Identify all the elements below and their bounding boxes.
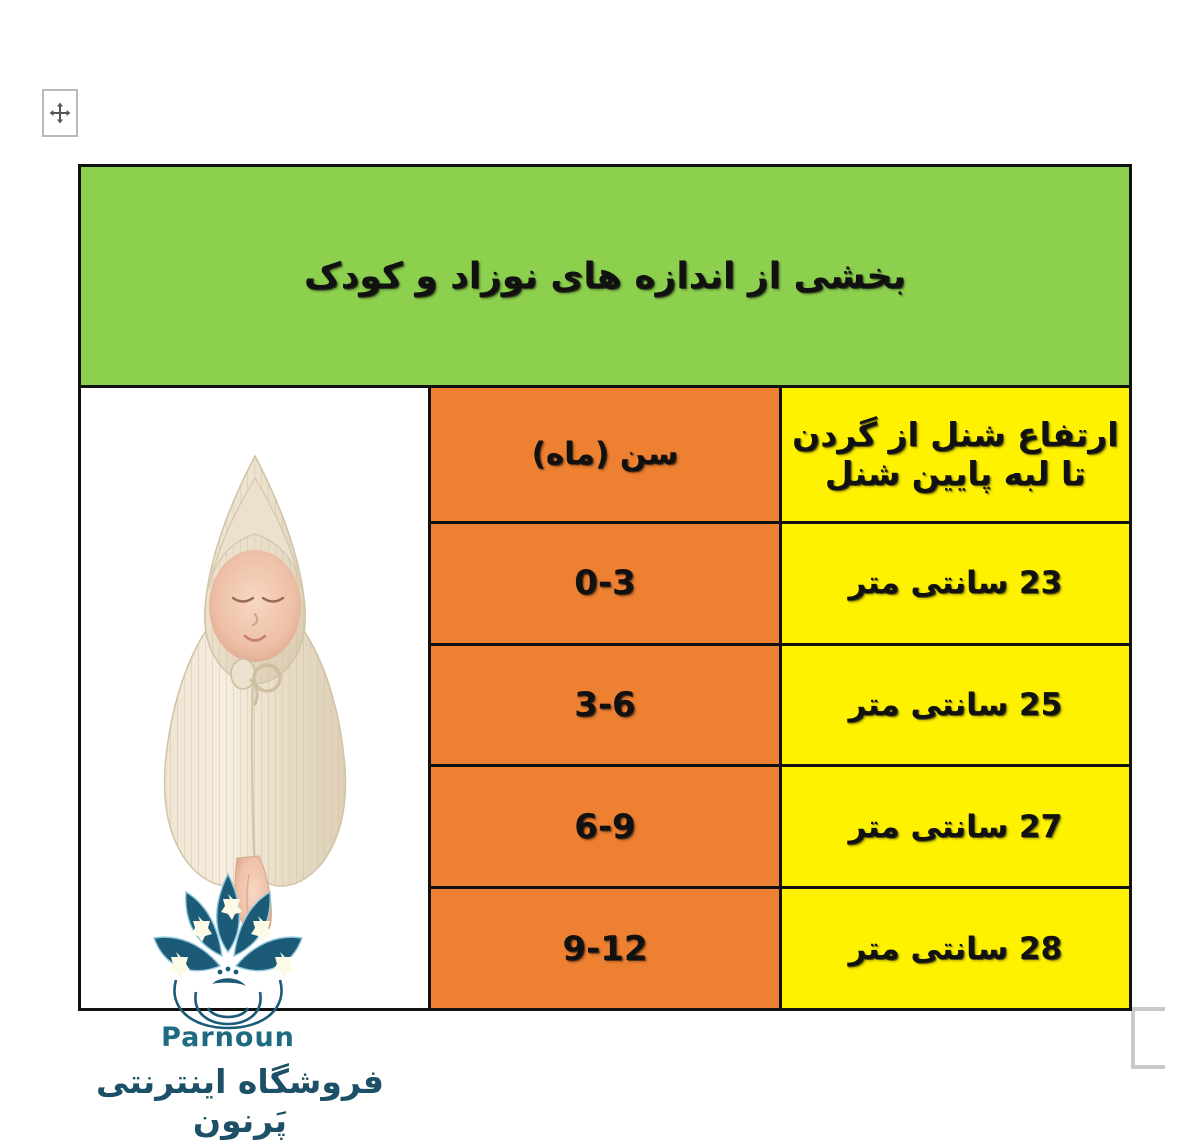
header-cell-measure: ارتفاع شنل از گردن تا لبه پایین شنل — [780, 387, 1130, 523]
baby-size-table: بخشی از اندازه های نوزاد و کودک ارتفاع ش… — [78, 164, 1132, 1011]
header-cell-age: سن (ماه) — [430, 387, 780, 523]
table-header-row: ارتفاع شنل از گردن تا لبه پایین شنل سن (… — [80, 387, 1131, 523]
table-resize-handle[interactable] — [1131, 1007, 1165, 1069]
cell-age-0: 0-3 — [430, 522, 780, 644]
cell-age-2: 6-9 — [430, 766, 780, 888]
table-title: بخشی از اندازه های نوزاد و کودک — [80, 166, 1131, 387]
table-move-handle[interactable] — [42, 89, 78, 137]
parnoun-wordmark: Parnoun — [148, 1022, 308, 1053]
cell-measure-3: 28 سانتی متر — [780, 888, 1130, 1010]
baby-knitted-hooded-cape-photo — [125, 438, 385, 958]
document-canvas: بخشی از اندازه های نوزاد و کودک ارتفاع ش… — [0, 0, 1200, 1123]
cell-age-1: 3-6 — [430, 644, 780, 766]
parnoun-shop-caption: فروشگاه اینترنتی پَرنون — [60, 1062, 420, 1140]
baby-photo-wrapper — [81, 388, 428, 1008]
cell-measure-0: 23 سانتی متر — [780, 522, 1130, 644]
photo-cell — [80, 387, 430, 1010]
cell-age-3: 9-12 — [430, 888, 780, 1010]
cell-measure-2: 27 سانتی متر — [780, 766, 1130, 888]
cell-measure-1: 25 سانتی متر — [780, 644, 1130, 766]
move-four-arrows-icon — [48, 101, 72, 125]
table-title-row: بخشی از اندازه های نوزاد و کودک — [80, 166, 1131, 387]
